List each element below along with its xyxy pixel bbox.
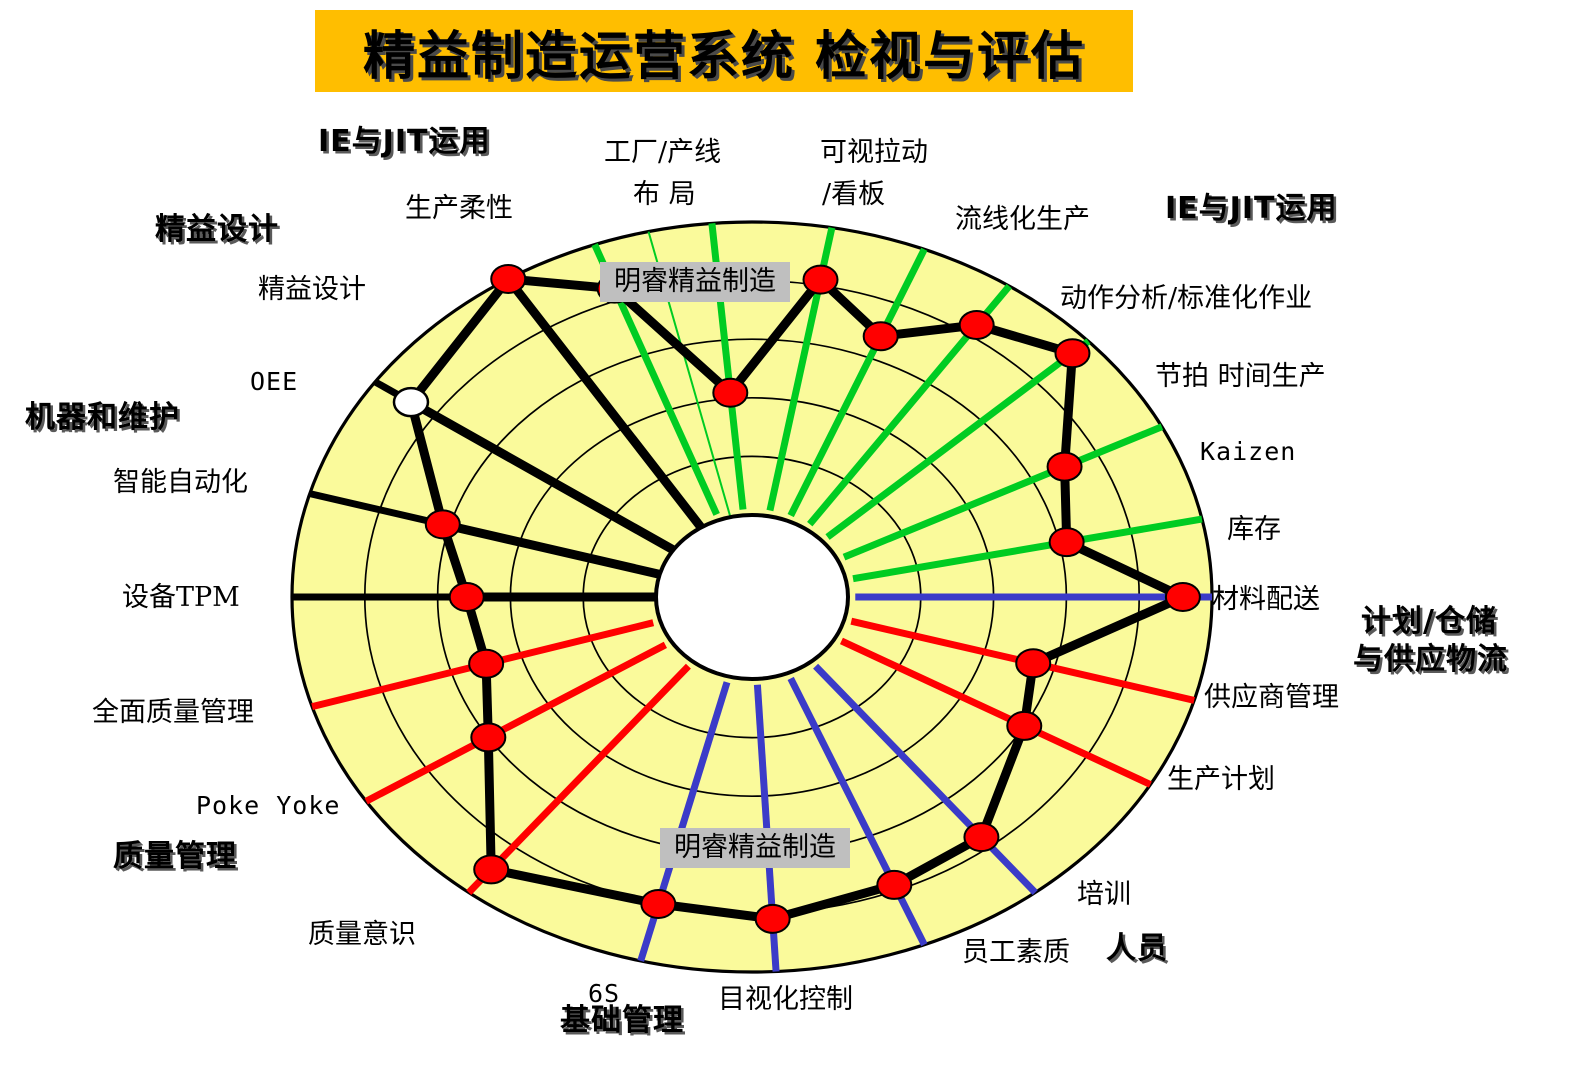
axis-label-layout-line2: 布 局 xyxy=(633,180,696,210)
category-machine: 机器和维护 xyxy=(25,401,180,435)
data-point-14[interactable] xyxy=(1050,528,1084,556)
data-point-6[interactable] xyxy=(474,855,508,883)
category-planning-line2: 与供应物流 xyxy=(1353,643,1508,677)
axis-label-production-plan: 生产计划 xyxy=(1167,765,1275,795)
radar-chart xyxy=(0,0,1573,1073)
category-people: 人员 xyxy=(1106,932,1168,966)
data-point-15[interactable] xyxy=(1048,453,1082,481)
data-point-7[interactable] xyxy=(641,890,675,918)
data-point-20[interactable] xyxy=(713,379,747,407)
axis-label-visual-control: 目视化控制 xyxy=(718,985,853,1015)
axis-label-lean-design: 精益设计 xyxy=(258,275,366,305)
axis-label-tpm: 设备TPM xyxy=(122,583,240,613)
chart-hub xyxy=(656,515,848,679)
axis-label-flow-production: 流线化生产 xyxy=(955,205,1090,235)
axis-label-flexibility: 生产柔性 xyxy=(405,194,513,224)
data-point-5[interactable] xyxy=(471,723,505,751)
axis-label-layout-line1: 工厂/产线 xyxy=(604,138,721,168)
data-point-8[interactable] xyxy=(756,905,790,933)
watermark-top: 明睿精益制造 xyxy=(600,262,790,302)
data-point-13[interactable] xyxy=(1166,583,1200,611)
chart-canvas: 精益制造运营系统 检视与评估 明睿精益制造 明睿精益制造 IE与JIT运用 精益… xyxy=(0,0,1573,1073)
axis-label-inventory: 库存 xyxy=(1227,515,1281,545)
data-point-9[interactable] xyxy=(877,871,911,899)
data-point-18[interactable] xyxy=(864,322,898,350)
axis-label-motion-analysis: 动作分析/标准化作业 xyxy=(1060,284,1312,314)
axis-label-visual-pull-line2: /看板 xyxy=(822,180,885,210)
data-point-0[interactable] xyxy=(491,265,525,293)
axis-label-poke-yoke: Poke Yoke xyxy=(196,792,340,820)
axis-label-oee: OEE xyxy=(250,368,298,396)
data-point-12[interactable] xyxy=(1016,649,1050,677)
axis-label-quality-awareness: 质量意识 xyxy=(308,920,416,950)
category-jit-left: IE与JIT运用 xyxy=(318,125,490,159)
data-point-10[interactable] xyxy=(964,823,998,851)
data-point-3[interactable] xyxy=(450,583,484,611)
data-point-2[interactable] xyxy=(426,510,460,538)
category-jit-right: IE与JIT运用 xyxy=(1165,192,1337,226)
axis-label-material-delivery: 材料配送 xyxy=(1212,585,1320,615)
data-point-19[interactable] xyxy=(804,266,838,294)
category-planning-line1: 计划/仓储 xyxy=(1361,605,1497,639)
data-point-16[interactable] xyxy=(1055,339,1089,367)
axis-label-training: 培训 xyxy=(1077,880,1131,910)
axis-label-supplier-mgmt: 供应商管理 xyxy=(1204,683,1339,713)
category-quality: 质量管理 xyxy=(113,840,237,874)
category-design: 精益设计 xyxy=(155,213,279,247)
data-point-1[interactable] xyxy=(394,388,428,416)
data-point-17[interactable] xyxy=(960,311,994,339)
axis-label-takt-time: 节拍 时间生产 xyxy=(1155,362,1326,392)
category-foundation: 基础管理 xyxy=(560,1004,684,1038)
watermark-bottom: 明睿精益制造 xyxy=(660,828,850,868)
axis-label-tqm: 全面质量管理 xyxy=(92,698,254,728)
data-point-11[interactable] xyxy=(1007,712,1041,740)
axis-label-kaizen: Kaizen xyxy=(1200,438,1296,466)
axis-label-staff-quality: 员工素质 xyxy=(962,938,1070,968)
data-point-4[interactable] xyxy=(469,650,503,678)
axis-label-6s: 6S xyxy=(588,980,620,1008)
axis-label-smart-automation: 智能自动化 xyxy=(113,468,248,498)
axis-label-visual-pull-line1: 可视拉动 xyxy=(820,138,928,168)
